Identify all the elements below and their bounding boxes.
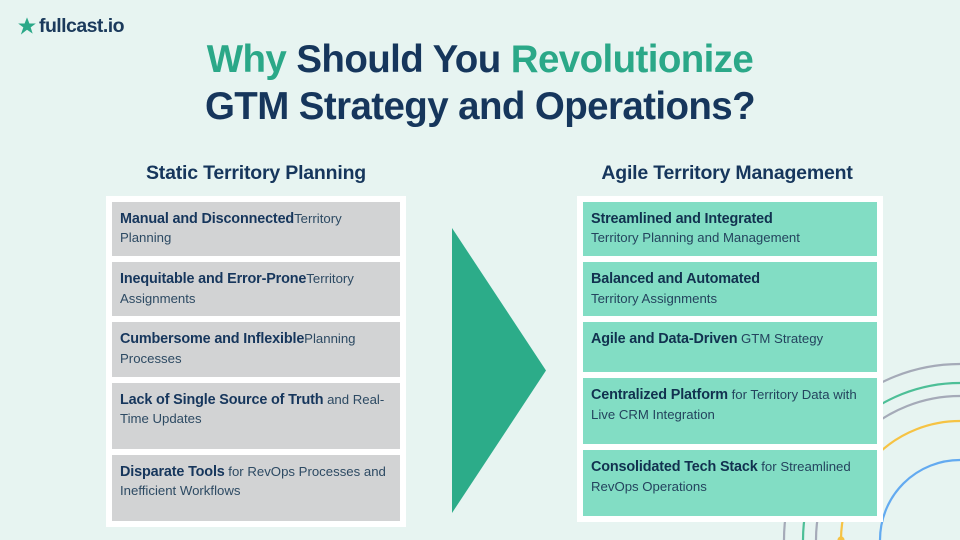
list-item: Lack of Single Source of Truth and Real-… [112, 383, 400, 449]
right-arrow-triangle-icon [452, 228, 546, 513]
title-word-why: Why [207, 38, 297, 81]
list-item: Centralized Platform for Territory Data … [583, 378, 877, 444]
slide-canvas: fullcast.io Why Should You Revolutionize… [0, 0, 960, 540]
list-item: Streamlined and IntegratedTerritory Plan… [583, 202, 877, 256]
list-item: Manual and DisconnectedTerritory Plannin… [112, 202, 400, 256]
brand-name: fullcast.io [39, 17, 124, 37]
column-left-panel: Manual and DisconnectedTerritory Plannin… [106, 196, 406, 527]
list-item: Disparate Tools for RevOps Processes and… [112, 455, 400, 521]
list-item: Consolidated Tech Stack for Streamlined … [583, 450, 877, 516]
title-line-2: GTM Strategy and Operations? [0, 83, 960, 130]
arc-endpoint-dot [837, 536, 844, 540]
column-right-heading: Agile Territory Management [583, 162, 871, 186]
list-item: Inequitable and Error-ProneTerritory Ass… [112, 262, 400, 316]
list-item: Balanced and AutomatedTerritory Assignme… [583, 262, 877, 316]
arc-blue [880, 460, 960, 540]
brand-logo: fullcast.io [17, 16, 124, 36]
title-line-1: Why Should You Revolutionize [0, 36, 960, 83]
column-right-panel: Streamlined and IntegratedTerritory Plan… [577, 196, 883, 522]
title-words-should-you: Should You [296, 38, 510, 81]
title-word-revolutionize: Revolutionize [511, 38, 753, 81]
column-static-territory-planning: Static Territory Planning Manual and Dis… [112, 162, 400, 527]
star-icon [17, 16, 37, 36]
column-agile-territory-management: Agile Territory Management Streamlined a… [583, 162, 871, 522]
column-left-heading: Static Territory Planning [112, 162, 400, 186]
list-item: Cumbersome and InflexiblePlanning Proces… [112, 322, 400, 376]
page-title: Why Should You Revolutionize GTM Strateg… [0, 36, 960, 131]
list-item: Agile and Data-Driven GTM Strategy [583, 322, 877, 372]
